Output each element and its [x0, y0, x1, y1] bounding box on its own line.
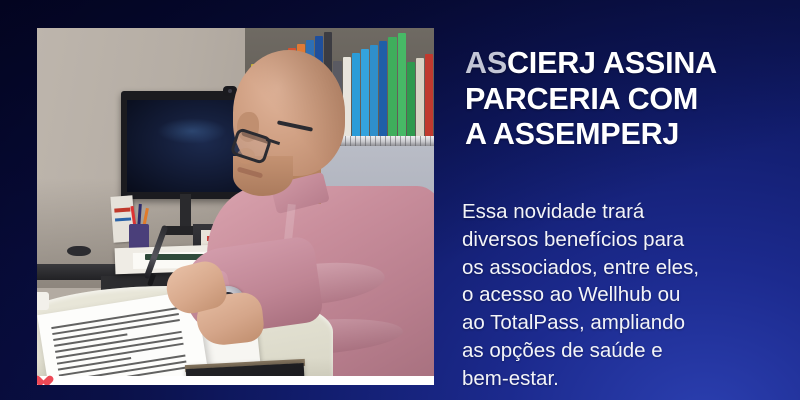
body-line-6: as opções de saúde e: [462, 337, 800, 365]
article-photo: [37, 28, 434, 385]
book-spine: [416, 58, 424, 136]
desk-object: [67, 246, 91, 256]
social-action-bar: [37, 376, 434, 385]
headline-line-1: ASCIERJ ASSINA: [465, 46, 797, 82]
body-line-4: o acesso ao Wellhub ou: [462, 281, 800, 309]
table-object: [37, 292, 49, 310]
body-paragraph: Essa novidade trarádiversos benefícios p…: [462, 198, 800, 392]
headline-line-2: PARCERIA COM: [465, 82, 797, 118]
text-panel: ASCIERJ ASSINA PARCERIA COM A ASSEMPERJ …: [462, 0, 800, 400]
slide-canvas: ASCIERJ ASSINA PARCERIA COM A ASSEMPERJ …: [0, 0, 800, 400]
book-spine: [370, 45, 378, 136]
book-spine: [425, 54, 433, 136]
book-spine: [388, 37, 396, 136]
body-line-5: ao TotalPass, ampliando: [462, 309, 800, 337]
body-line-7: bem-estar.: [462, 365, 800, 393]
book-spine: [361, 49, 369, 136]
page-title: ASCIERJ ASSINA PARCERIA COM A ASSEMPERJ: [465, 46, 797, 153]
body-line-3: os associados, entre eles,: [462, 254, 800, 282]
book-spine: [398, 33, 406, 136]
headline-line-1-dim: AS: [465, 46, 507, 80]
body-line-1: Essa novidade trará: [462, 198, 800, 226]
book-spine: [407, 62, 415, 136]
screen-glow: [157, 118, 227, 144]
book-spine: [352, 53, 360, 136]
headline-line-3: A ASSEMPERJ: [465, 117, 797, 153]
body-line-2: diversos benefícios para: [462, 226, 800, 254]
book-spine: [379, 41, 387, 136]
headline-line-1-rest: CIERJ ASSINA: [507, 46, 717, 80]
